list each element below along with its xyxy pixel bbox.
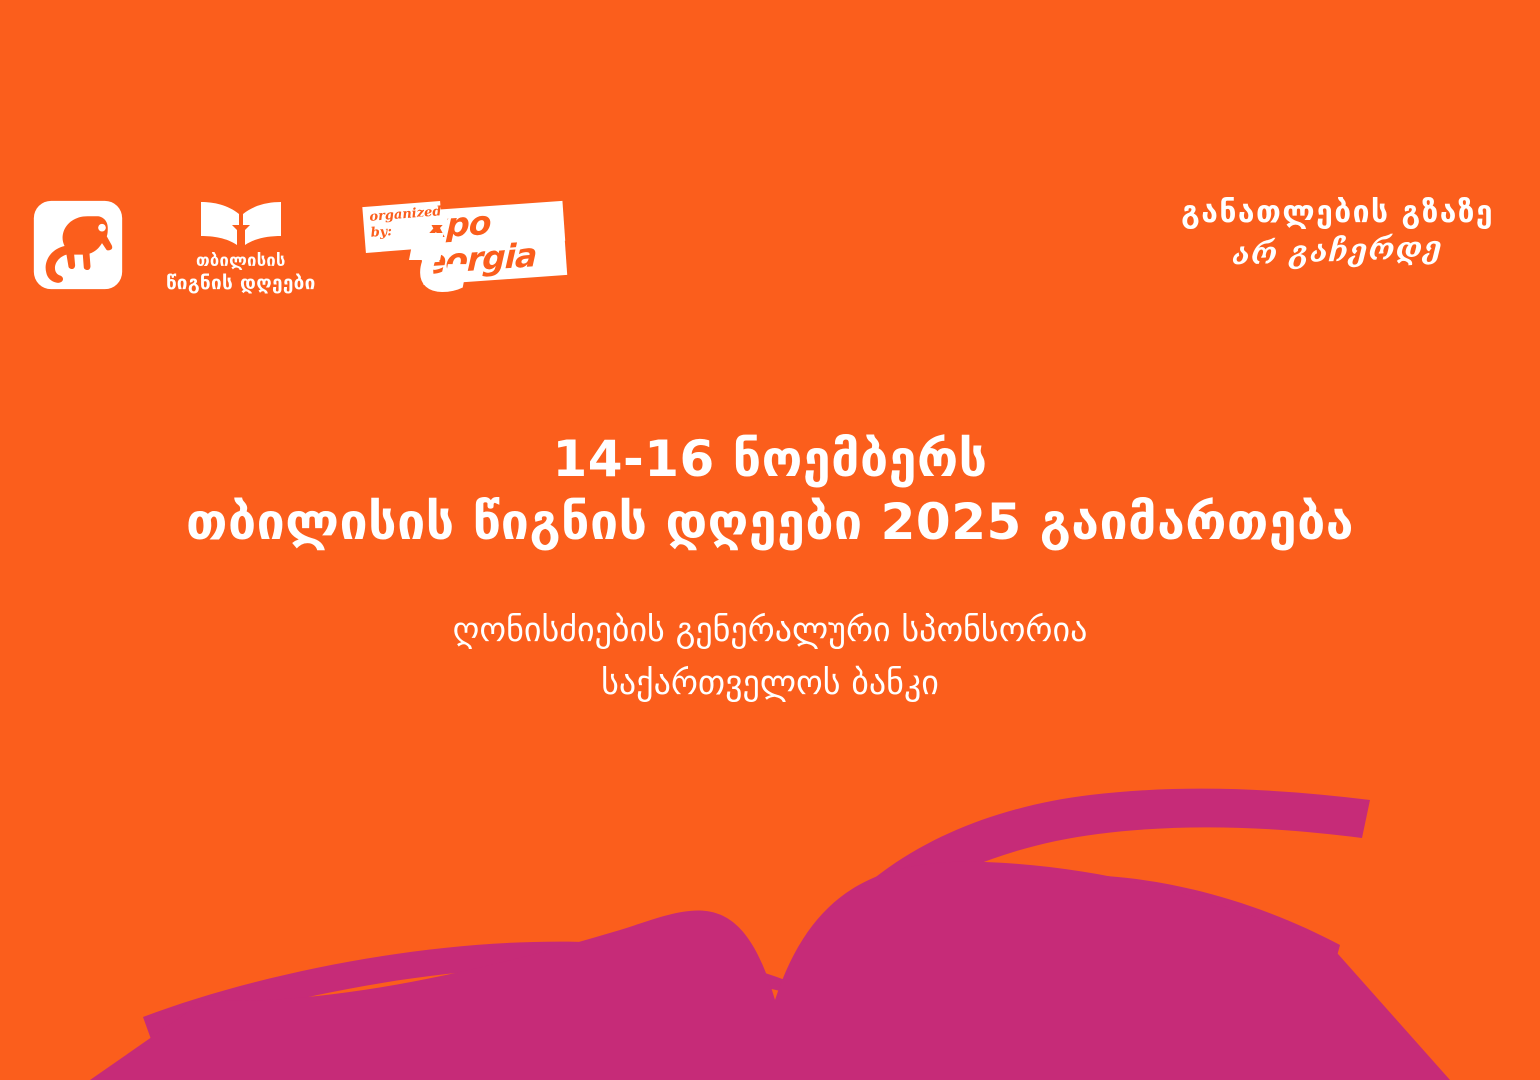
slogan-line1: განათლების გზაზე xyxy=(1181,196,1494,229)
event-title: თბილისის წიგნის დღეები 2025 გაიმართება xyxy=(0,493,1540,552)
sponsor-name: საქართველოს ბანკი xyxy=(0,657,1540,710)
expo-georgia-logo[interactable]: organized by: xpo eorgia E G xyxy=(364,200,564,290)
book-days-logo[interactable]: თბილისის წიგნის დღეები xyxy=(166,196,316,293)
sponsor-block: ღონისძიების გენერალური სპონსორია საქართვ… xyxy=(0,604,1540,709)
education-slogan: განათლების გზაზე არ გაჩერდე xyxy=(1181,196,1494,268)
open-book-illustration xyxy=(0,780,1540,1080)
expo-big-g-letter: G xyxy=(418,236,472,302)
book-days-logo-line1: თბილისის xyxy=(196,252,286,269)
lion-logo[interactable] xyxy=(30,197,126,293)
lion-mark-icon xyxy=(30,197,126,293)
book-page-right-body xyxy=(775,862,1450,1080)
open-book-icon xyxy=(198,200,284,248)
book-page-left-body xyxy=(90,911,775,1080)
logo-row: თბილისის წიგნის დღეები organized by: xpo… xyxy=(30,190,564,300)
event-date: 14-16 ნოემბერს xyxy=(0,430,1540,489)
slogan-line2: არ გაჩერდე xyxy=(1181,230,1495,274)
poster-canvas: თბილისის წიგნის დღეები organized by: xpo… xyxy=(0,0,1540,1080)
book-days-logo-line2: წიგნის დღეები xyxy=(166,274,316,294)
headline-block: 14-16 ნოემბერს თბილისის წიგნის დღეები 20… xyxy=(0,430,1540,552)
sponsor-label: ღონისძიების გენერალური სპონსორია xyxy=(0,604,1540,657)
